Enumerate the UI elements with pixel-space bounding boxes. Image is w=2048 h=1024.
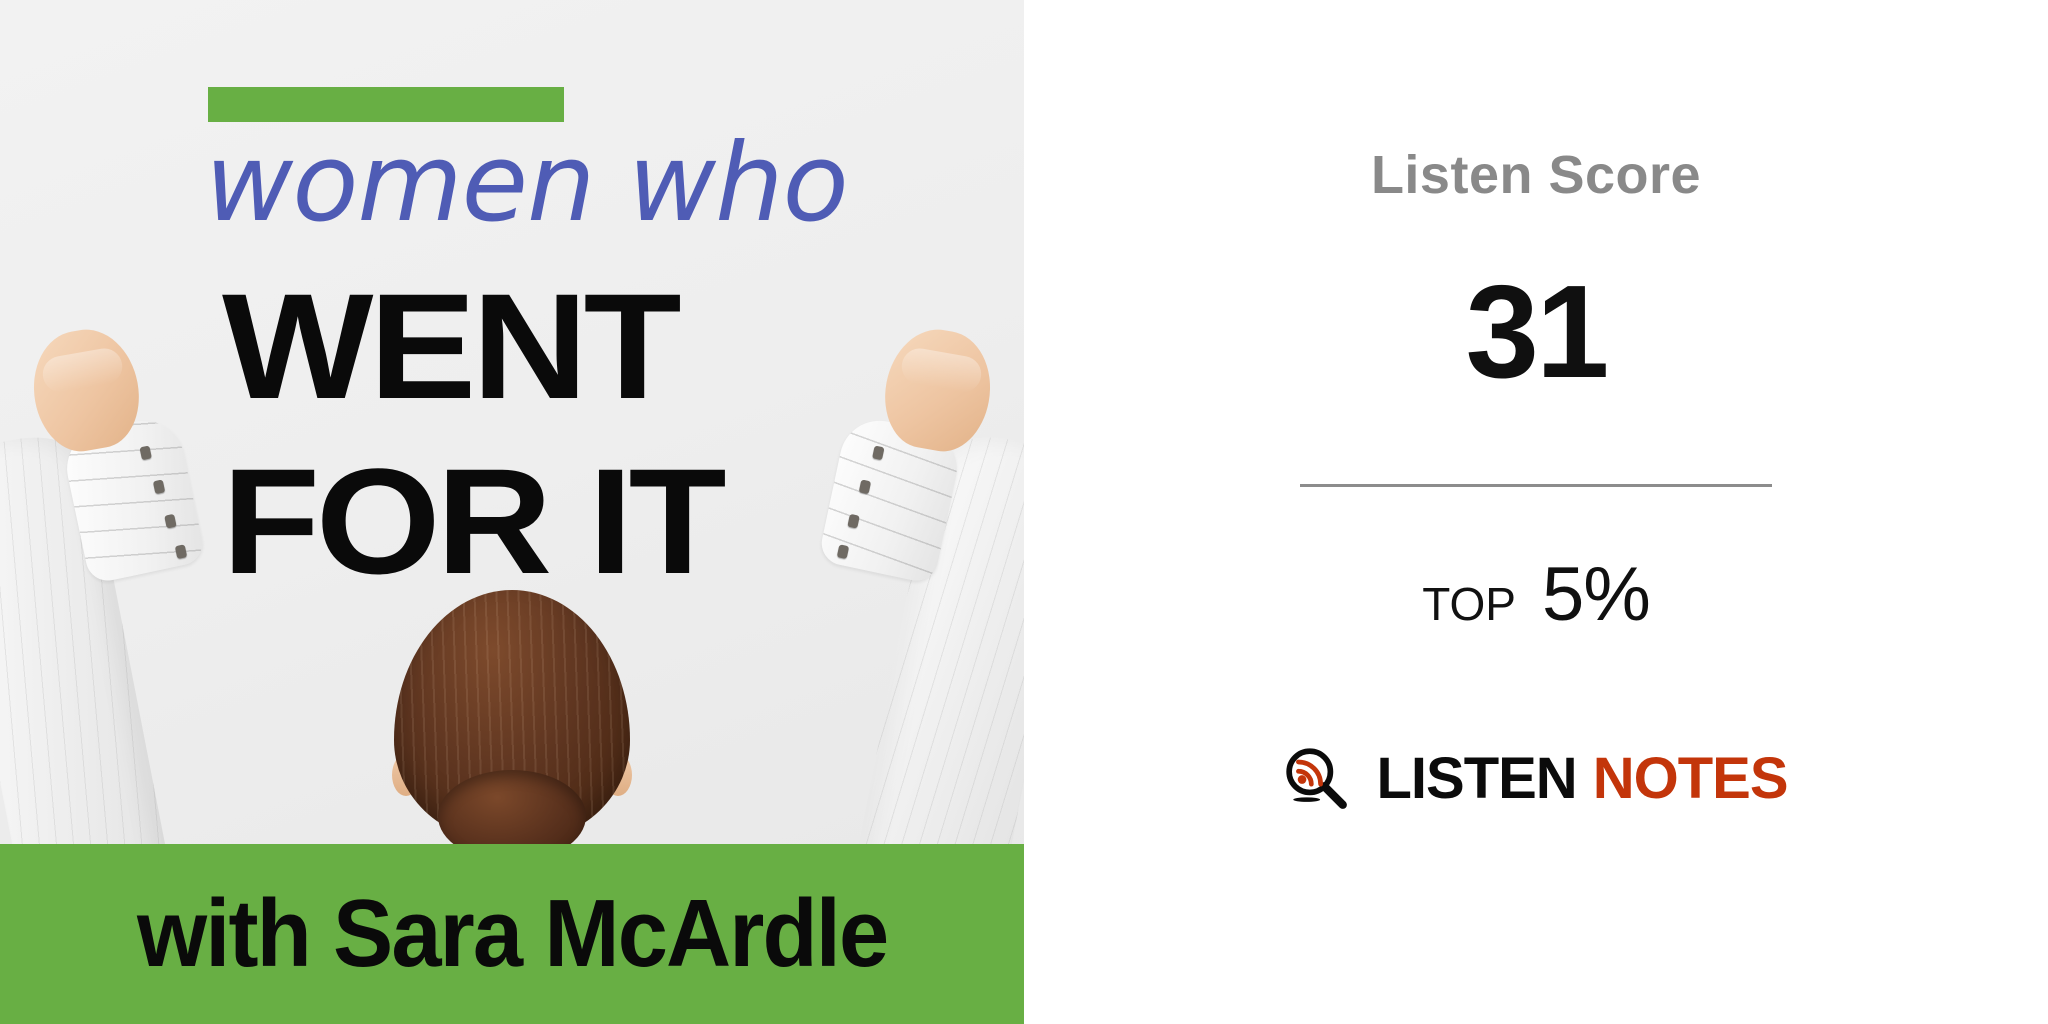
cover-title-line-1: WENT xyxy=(222,277,971,417)
listen-score-panel: Listen Score 31 TOP 5% LISTEN NOTES xyxy=(1024,0,2048,1024)
host-banner: with Sara McArdle xyxy=(0,844,1024,1024)
rank-row: TOP 5% xyxy=(1422,551,1650,638)
listen-notes-wordmark: LISTEN NOTES xyxy=(1376,750,1787,808)
host-name: with Sara McArdle xyxy=(137,879,887,989)
logo-word-listen: LISTEN xyxy=(1376,750,1576,808)
logo-word-notes: NOTES xyxy=(1593,750,1788,808)
cover-title-line-2: FOR IT xyxy=(222,452,971,592)
listen-notes-logo[interactable]: LISTEN NOTES xyxy=(1284,746,1787,812)
panel-divider xyxy=(1300,484,1772,487)
listen-score-card: women who WENT FOR IT with Sara McArdle … xyxy=(0,0,2048,1024)
podcast-cover-art: women who WENT FOR IT with Sara McArdle xyxy=(0,0,1024,1024)
rank-percentile: 5% xyxy=(1542,551,1650,638)
listen-score-value: 31 xyxy=(1466,266,1607,398)
listen-score-label: Listen Score xyxy=(1371,148,1701,202)
rank-label: TOP xyxy=(1422,577,1516,631)
magnifier-rss-icon xyxy=(1284,746,1350,812)
green-rule xyxy=(208,87,564,122)
cover-script-text: women who xyxy=(205,122,845,246)
